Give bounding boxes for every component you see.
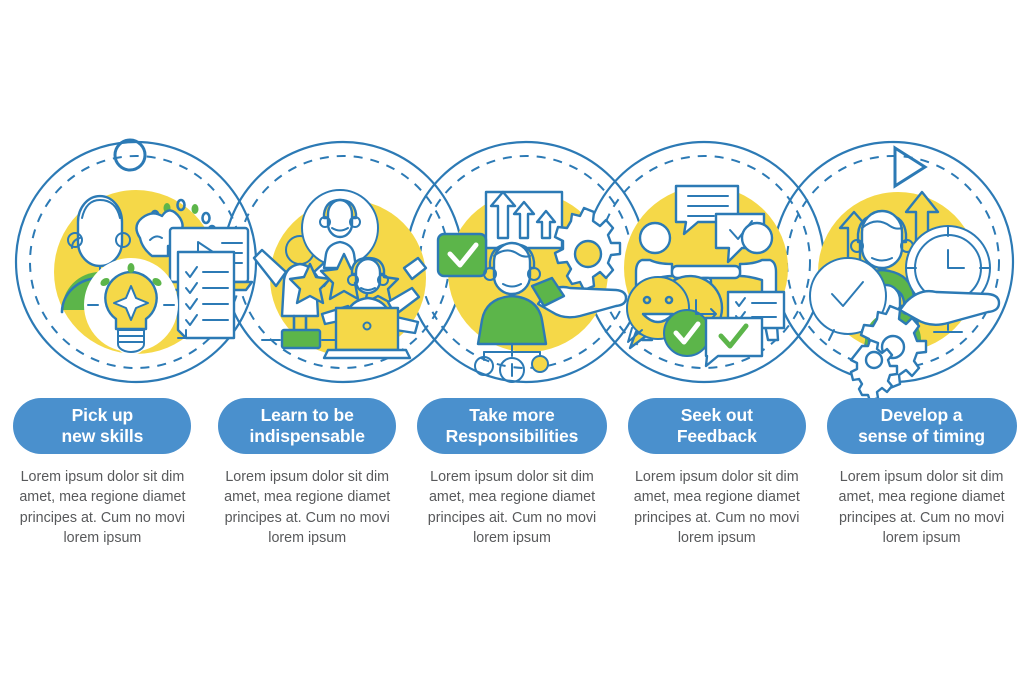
step-description-2: Lorem ipsum dolor sit dim amet, mea regi…: [209, 467, 405, 548]
circle-outline-marker: [115, 140, 145, 170]
step-column-4: Seek out Feedback Lorem ipsum dolor sit …: [614, 398, 819, 548]
learning-skills-icon: [54, 190, 252, 355]
bottom-check-bubble: [706, 318, 762, 366]
step-description-5: Lorem ipsum dolor sit dim amet, mea regi…: [824, 467, 1020, 548]
checklist-document: [178, 252, 234, 338]
step-pill-pick-up-new-skills[interactable]: Pick up new skills: [13, 398, 191, 454]
infographic-root: .ol { fill:none; stroke:#2c7ab5; stroke-…: [0, 0, 1024, 683]
step-column-1: Pick up new skills Lorem ipsum dolor sit…: [0, 398, 205, 548]
step-column-3: Take more Responsibilities Lorem ipsum d…: [410, 398, 615, 548]
star-person: [302, 190, 378, 268]
circles-band: .ol { fill:none; stroke:#2c7ab5; stroke-…: [0, 0, 1024, 400]
responsibilities-icon: [438, 192, 626, 382]
steps-row: Pick up new skills Lorem ipsum dolor sit…: [0, 398, 1024, 573]
green-check-circle: [664, 310, 710, 356]
play-triangle-marker: [895, 148, 925, 186]
feedback-meeting-icon: [624, 186, 788, 366]
step-column-2: Learn to be indispensable Lorem ipsum do…: [205, 398, 410, 548]
step-pill-develop-a-sense-of-timing[interactable]: Develop a sense of timing: [827, 398, 1017, 454]
step-description-3: Lorem ipsum dolor sit dim amet, mea regi…: [414, 467, 610, 548]
step-pill-take-more-responsibilities[interactable]: Take more Responsibilities: [417, 398, 607, 454]
step-description-4: Lorem ipsum dolor sit dim amet, mea regi…: [619, 467, 815, 548]
indispensable-employee-icon: [254, 190, 426, 358]
step-pill-seek-out-feedback[interactable]: Seek out Feedback: [628, 398, 806, 454]
step-column-5: Develop a sense of timing Lorem ipsum do…: [819, 398, 1024, 548]
step-description-1: Lorem ipsum dolor sit dim amet, mea regi…: [4, 467, 200, 548]
step-pill-learn-to-be-indispensable[interactable]: Learn to be indispensable: [218, 398, 396, 454]
green-check-box: [438, 234, 486, 276]
